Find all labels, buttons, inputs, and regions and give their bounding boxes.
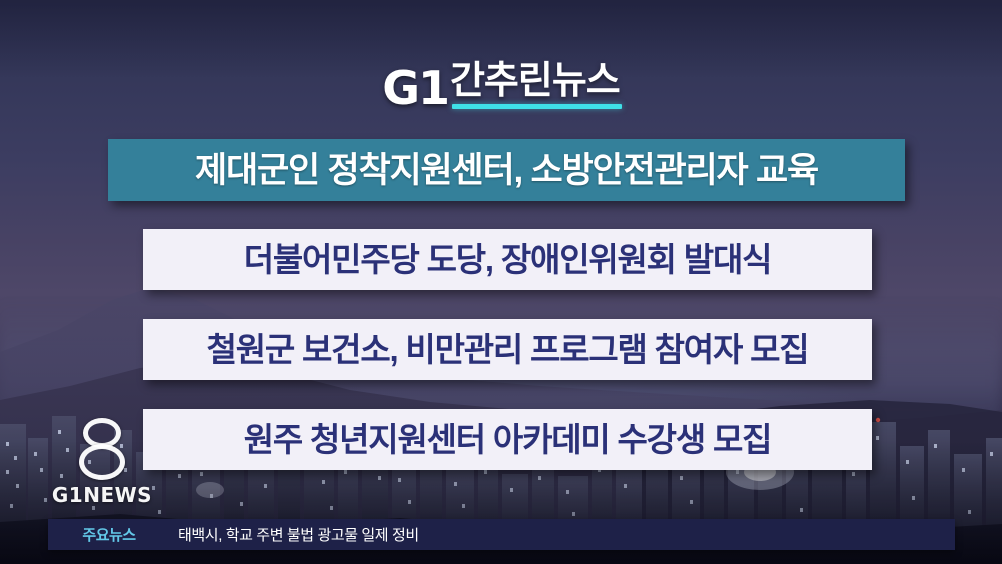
- program-title-wrap: 간추린뉴스: [450, 62, 620, 109]
- headline-text: 더불어민주당 도당, 장애인위원회 발대식: [244, 243, 772, 276]
- broadcast-screen: G1 간추린뉴스 제대군인 정착지원센터, 소방안전관리자 교육 더불어민주당 …: [0, 0, 1002, 564]
- program-title-block: G1 간추린뉴스: [0, 62, 1002, 109]
- news-ticker-bar: 주요뉴스 태백시, 학교 주변 불법 광고물 일제 정비: [48, 519, 955, 550]
- headline-text: 철원군 보건소, 비만관리 프로그램 참여자 모집: [207, 333, 809, 366]
- headline-bar[interactable]: 철원군 보건소, 비만관리 프로그램 참여자 모집: [143, 319, 872, 380]
- title-underline-accent: [452, 104, 622, 109]
- headline-bar[interactable]: 원주 청년지원센터 아카데미 수강생 모집: [143, 409, 872, 470]
- headline-bar-active[interactable]: 제대군인 정착지원센터, 소방안전관리자 교육: [108, 139, 905, 201]
- g1-channel-logo: G1: [382, 65, 448, 111]
- page-title: 간추린뉴스: [450, 62, 620, 100]
- headline-text: 제대군인 정착지원센터, 소방안전관리자 교육: [195, 153, 818, 188]
- headline-text: 원주 청년지원센터 아카데미 수강생 모집: [244, 423, 772, 456]
- ticker-headline-text: 태백시, 학교 주변 불법 광고물 일제 정비: [178, 524, 419, 545]
- ticker-category-label: 주요뉴스: [66, 524, 152, 545]
- headline-bar[interactable]: 더불어민주당 도당, 장애인위원회 발대식: [143, 229, 872, 290]
